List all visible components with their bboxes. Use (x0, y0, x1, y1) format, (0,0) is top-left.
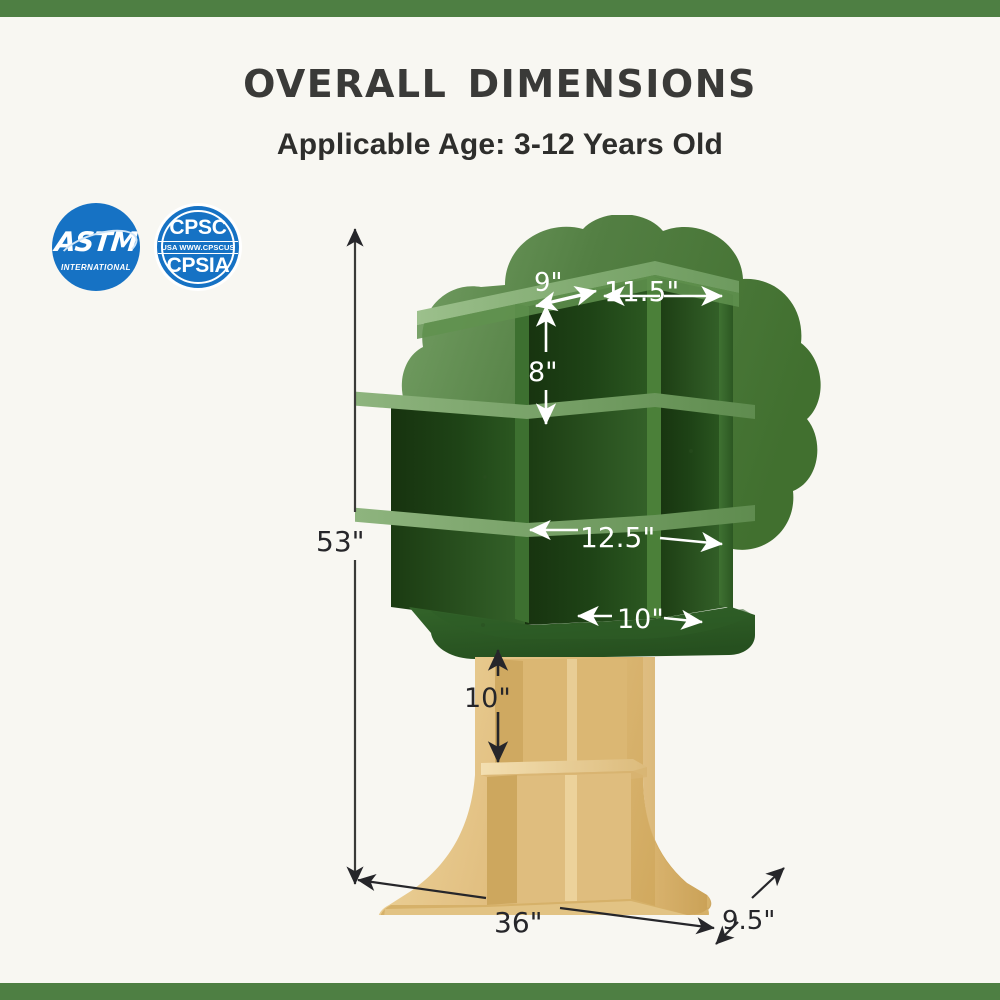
dimension-label-width-low-shelf: 10" (617, 604, 664, 635)
tree-trunk (378, 657, 711, 915)
infographic-page: Overall Dimensions Applicable Age: 3-12 … (0, 0, 1000, 1000)
page-subtitle: Applicable Age: 3-12 Years Old (0, 128, 1000, 162)
dimension-label-overall-height: 53" (316, 525, 365, 558)
page-title: Overall Dimensions (0, 52, 1000, 106)
dimension-label-overall-depth: 9.5" (722, 906, 775, 936)
cpsc-badge-icon: CPSC USA WWW.CPSCUS CPSIA (154, 203, 242, 291)
dimension-label-overall-width: 36" (494, 906, 543, 939)
frame-bar-top (0, 0, 1000, 17)
astm-badge-icon: ASTM INTERNATIONAL (52, 203, 140, 291)
certification-badges: ASTM INTERNATIONAL CPSC USA WWW.CPSCUS C… (52, 203, 242, 291)
dimension-label-height-top-cubby: 8" (528, 357, 558, 388)
dimension-label-width-mid-shelf: 12.5" (580, 521, 655, 554)
frame-bar-bottom (0, 983, 1000, 1000)
product-illustration (355, 215, 855, 915)
dimension-label-height-trunk-cubby: 10" (464, 683, 511, 714)
dimension-label-width-top-shelf: 11.5" (604, 275, 679, 308)
dimension-label-depth-top-shelf: 9" (534, 268, 563, 298)
cpsc-ring-icon (161, 210, 235, 284)
